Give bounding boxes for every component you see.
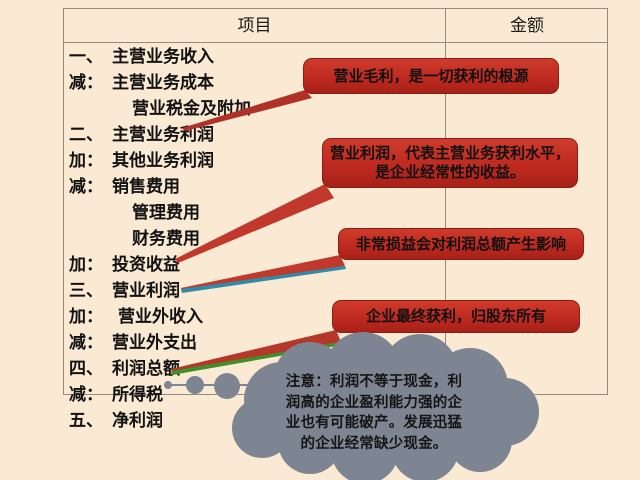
statement-row-label: 财务费用 xyxy=(112,226,200,252)
statement-row-label: 主营业务收入 xyxy=(112,44,214,70)
column-header-amount: 金额 xyxy=(446,9,608,43)
statement-row-prefix: 五、 xyxy=(64,408,112,434)
callout-net-profit[interactable]: 企业最终获利，归股东所有 xyxy=(332,300,580,333)
statement-row-prefix: 减： xyxy=(64,330,112,356)
statement-row-prefix: 减： xyxy=(64,174,112,200)
statement-row-prefix: 加： xyxy=(64,252,112,278)
statement-row-label: 所得税 xyxy=(112,382,163,408)
callout-gross-profit[interactable]: 营业毛利，是一切获利的根源 xyxy=(303,58,559,94)
callout-extraordinary-items[interactable]: 非常损益会对利润总额产生影响 xyxy=(338,228,584,260)
callout-operating-profit-line2: 是企业经常性的收益。 xyxy=(330,163,570,182)
statement-row-prefix: 四、 xyxy=(64,356,112,382)
statement-row-label: 销售费用 xyxy=(112,174,180,200)
cloud-line-1: 注意：利润不等于现金，利 xyxy=(258,372,490,393)
callout-operating-profit[interactable]: 营业利润，代表主营业务获利水平， 是企业经常性的收益。 xyxy=(322,138,578,188)
callout-operating-profit-line1: 营业利润，代表主营业务获利水平， xyxy=(330,144,570,163)
statement-row: 营业税金及附加 xyxy=(64,96,445,122)
statement-row-prefix: 三、 xyxy=(64,278,112,304)
slide-canvas: 项目 金额 一、主营业务收入减：主营业务成本营业税金及附加二、主营业务利润加：其… xyxy=(0,0,640,480)
statement-row: 减：营业外支出 xyxy=(64,330,445,356)
statement-row-label: 营业利润 xyxy=(112,278,180,304)
statement-row-prefix: 加： xyxy=(64,304,112,330)
statement-row-prefix: 减： xyxy=(64,382,112,408)
statement-row-label: 营业税金及附加 xyxy=(112,96,251,122)
statement-row-label: 主营业务成本 xyxy=(112,70,214,96)
statement-row-prefix: 减： xyxy=(64,70,112,96)
cloud-line-2: 润高的企业盈利能力强的企 xyxy=(258,393,490,414)
statement-row-label: 营业外收入 xyxy=(112,304,203,330)
statement-row-label: 投资收益 xyxy=(112,252,180,278)
cloud-line-4: 的企业经常缺少现金。 xyxy=(258,434,490,455)
cloud-line-3: 业也有可能破产。发展迅猛 xyxy=(258,413,490,434)
cloud-callout-text: 注意：利润不等于现金，利 润高的企业盈利能力强的企 业也有可能破产。发展迅猛 的… xyxy=(258,372,490,454)
statement-row-prefix: 一、 xyxy=(64,44,112,70)
statement-row-label: 营业外支出 xyxy=(112,330,197,356)
statement-row: 管理费用 xyxy=(64,200,445,226)
statement-row-label: 其他业务利润 xyxy=(112,148,214,174)
statement-row-label: 净利润 xyxy=(112,408,163,434)
statement-row-prefix: 二、 xyxy=(64,122,112,148)
statement-row-label: 主营业务利润 xyxy=(112,122,214,148)
table-header-row: 项目 金额 xyxy=(64,9,607,43)
statement-row-prefix: 加： xyxy=(64,148,112,174)
statement-row-label: 利润总额 xyxy=(112,356,180,382)
statement-row-label: 管理费用 xyxy=(112,200,200,226)
column-header-item: 项目 xyxy=(64,9,445,43)
